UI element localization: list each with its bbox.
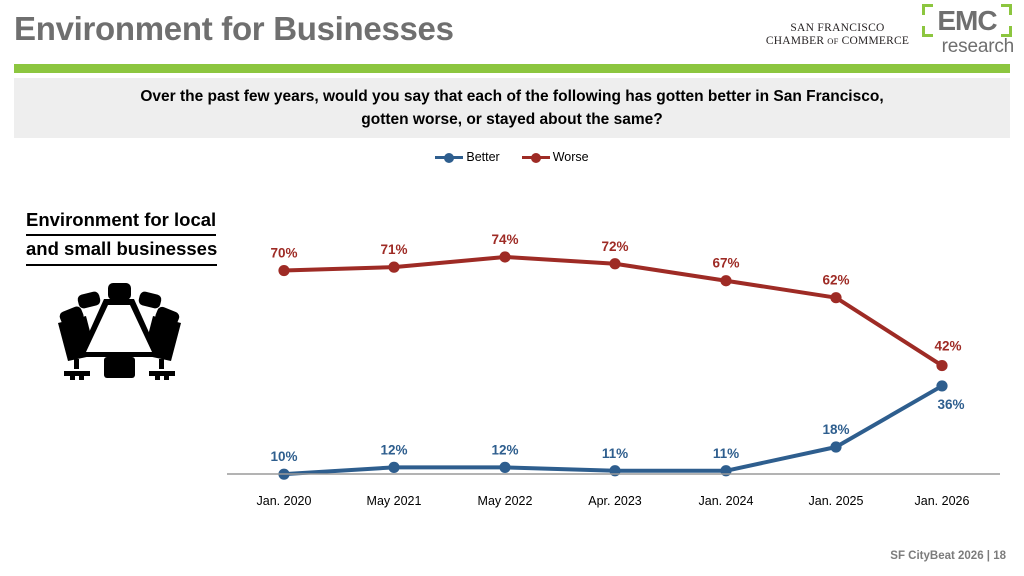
chamber-logo-chamber: CHAMBER [766,35,824,47]
line-chart: 10%12%12%11%11%18%36%70%71%74%72%67%62%4… [0,160,1024,520]
chart-series-group: 10%12%12%11%11%18%36%70%71%74%72%67%62%4… [270,232,964,480]
chamber-logo-line1: SAN FRANCISCO [760,22,915,35]
data-label-worse: 72% [601,239,628,254]
data-label-better: 11% [602,446,628,461]
page-header: Environment for Businesses SAN FRANCISCO… [0,0,1024,60]
page-title: Environment for Businesses [14,10,454,48]
sf-chamber-of-commerce-logo: SAN FRANCISCO CHAMBER OF COMMERCE [760,22,915,48]
data-point-worse[interactable] [499,251,510,262]
x-axis-tick-label: May 2022 [478,494,533,508]
data-label-worse: 62% [822,273,849,288]
data-label-better: 36% [937,397,964,412]
data-point-worse[interactable] [278,265,289,276]
data-label-worse: 70% [270,246,297,261]
data-label-better: 11% [713,446,739,461]
emc-logo-text: EMC [922,4,1012,37]
data-label-worse: 74% [491,232,518,247]
emc-logo-research-word: research [922,36,1014,58]
x-axis-tick-label: May 2021 [367,494,422,508]
data-point-worse[interactable] [609,258,620,269]
data-point-better[interactable] [499,462,510,473]
data-label-worse: 71% [380,242,407,257]
header-accent-bar [14,64,1010,73]
data-label-better: 10% [270,449,297,464]
data-point-better[interactable] [830,441,841,452]
data-point-worse[interactable] [388,262,399,273]
emc-logo-mark: EMC [922,4,1012,37]
data-point-worse[interactable] [936,360,947,371]
data-point-better[interactable] [936,380,947,391]
chamber-logo-line2: CHAMBER OF COMMERCE [760,35,915,48]
survey-question-banner: Over the past few years, would you say t… [14,78,1010,138]
data-label-better: 18% [822,422,849,437]
data-point-better[interactable] [388,462,399,473]
x-axis-tick-label: Jan. 2020 [257,494,312,508]
x-axis-tick-label: Jan. 2025 [809,494,864,508]
footer-note: SF CityBeat 2026 | 18 [890,550,1006,562]
x-axis-tick-label: Apr. 2023 [588,494,642,508]
question-line-2: gotten worse, or stayed about the same? [361,108,662,131]
x-axis-tick-label: Jan. 2026 [915,494,970,508]
emc-research-logo: EMC research [922,4,1018,60]
chart-x-tick-labels: Jan. 2020May 2021May 2022Apr. 2023Jan. 2… [257,494,970,508]
question-line-1: Over the past few years, would you say t… [140,85,883,108]
chamber-logo-commerce: COMMERCE [842,35,909,47]
data-point-worse[interactable] [720,275,731,286]
data-label-worse: 42% [934,339,961,354]
x-axis-tick-label: Jan. 2024 [699,494,754,508]
chamber-logo-of: OF [827,36,838,46]
data-label-better: 12% [380,442,407,457]
data-point-worse[interactable] [830,292,841,303]
data-label-better: 12% [491,442,518,457]
data-label-worse: 67% [712,256,739,271]
